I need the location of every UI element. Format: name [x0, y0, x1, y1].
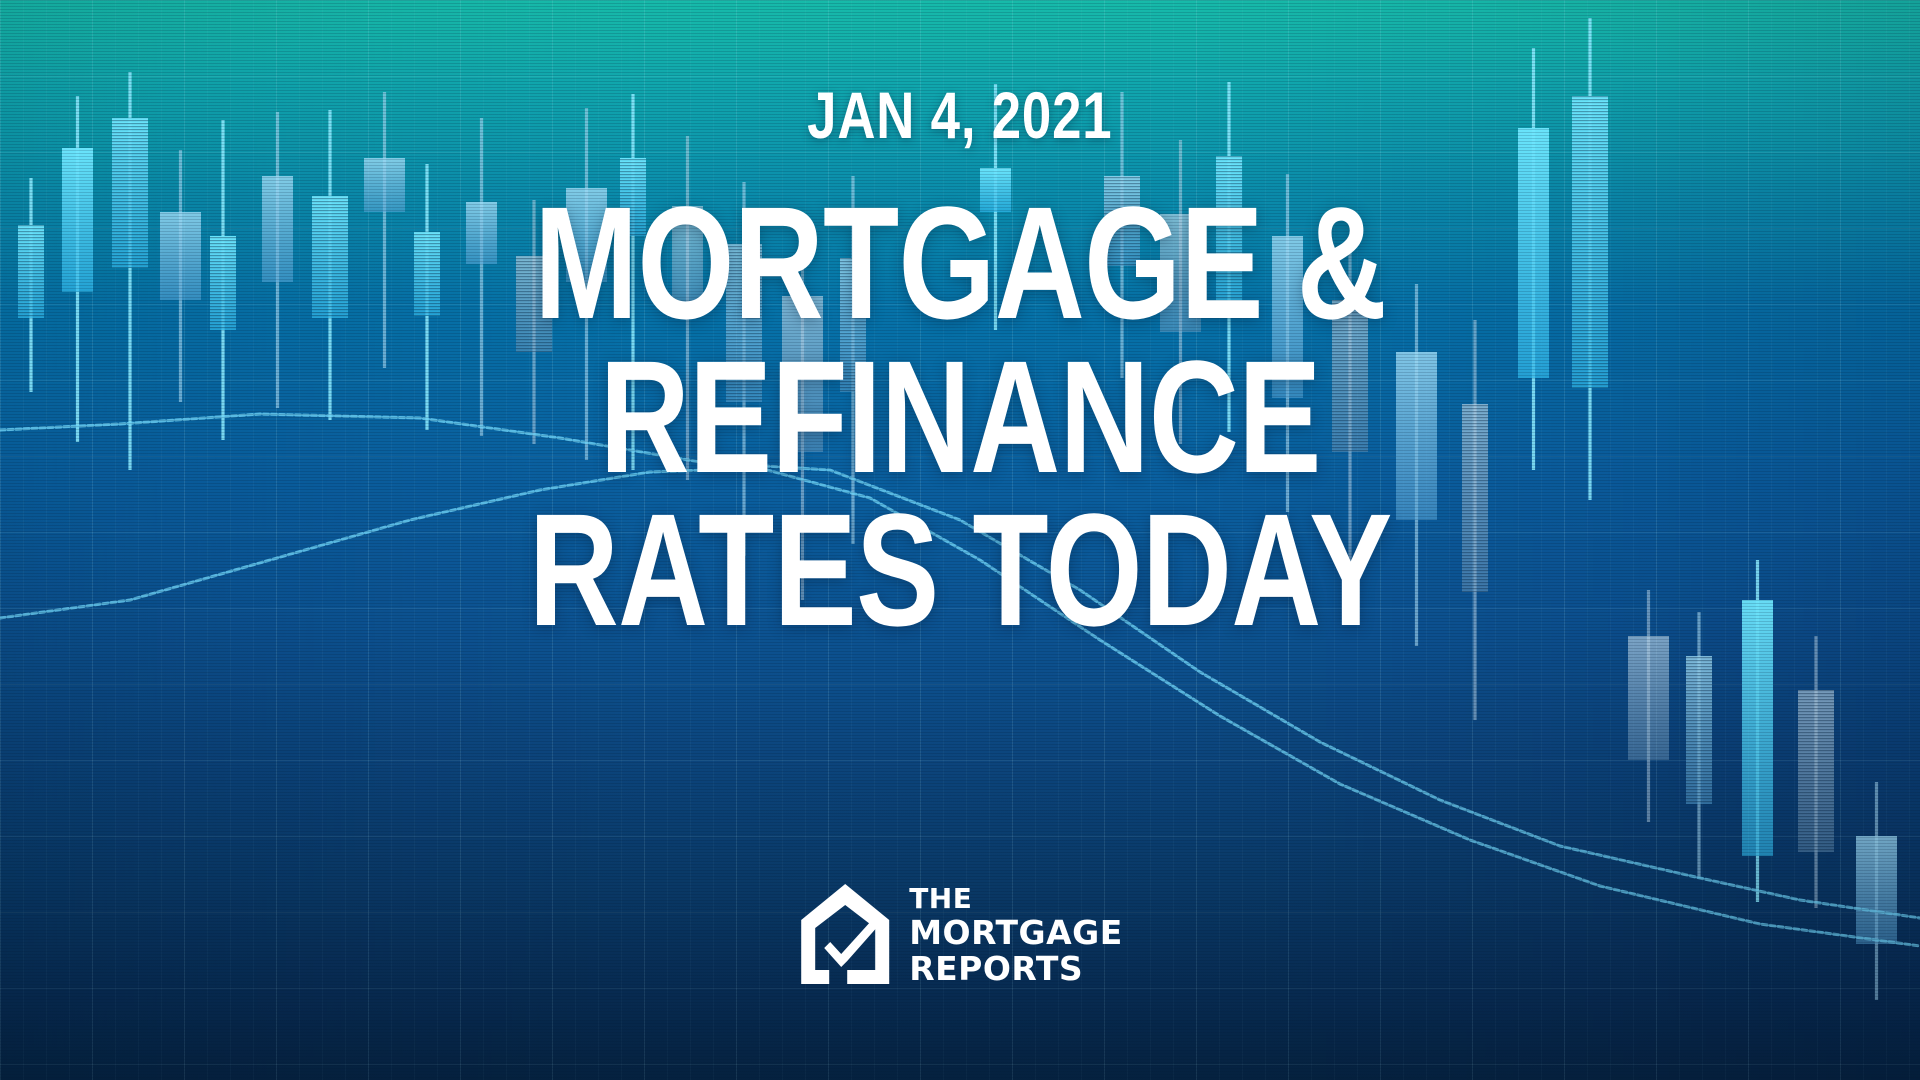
headline-line-3: RATES TODAY [529, 493, 1392, 647]
brand-wordmark: THE MORTGAGE REPORTS [909, 885, 1123, 985]
house-check-icon [797, 880, 893, 990]
headline-line-2: REFINANCE [529, 340, 1392, 494]
brand-line-the: THE [909, 885, 1123, 913]
page-title: MORTGAGE & REFINANCE RATES TODAY [407, 186, 1513, 647]
date-kicker: JAN 4, 2021 [807, 82, 1112, 148]
brand-logo[interactable]: THE MORTGAGE REPORTS [797, 880, 1123, 990]
brand-line-mortgage: MORTGAGE [909, 916, 1123, 949]
headline-line-1: MORTGAGE & [529, 186, 1392, 340]
brand-line-reports: REPORTS [909, 952, 1123, 985]
mortgage-rates-banner: JAN 4, 2021 MORTGAGE & REFINANCE RATES T… [0, 0, 1920, 1080]
